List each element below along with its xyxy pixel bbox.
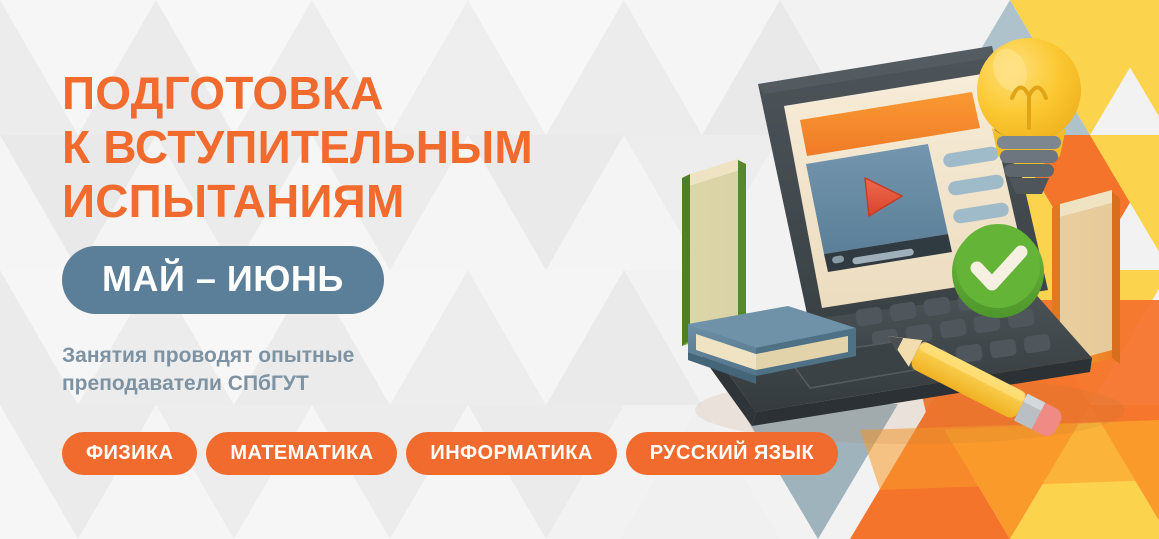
subject-tag-list: ФИЗИКА МАТЕМАТИКА ИНФОРМАТИКА РУССКИЙ ЯЗ… xyxy=(62,432,838,475)
subject-tag-physics[interactable]: ФИЗИКА xyxy=(62,432,197,475)
education-illustration xyxy=(660,28,1159,458)
page-title: ПОДГОТОВКА К ВСТУПИТЕЛЬНЫМ ИСПЫТАНИЯМ xyxy=(62,66,720,228)
subject-tag-russian[interactable]: РУССКИЙ ЯЗЫК xyxy=(626,432,838,475)
subject-tag-informatics[interactable]: ИНФОРМАТИКА xyxy=(406,432,616,475)
promo-banner: ПОДГОТОВКА К ВСТУПИТЕЛЬНЫМ ИСПЫТАНИЯМ МА… xyxy=(0,0,1159,539)
subject-tag-mathematics[interactable]: МАТЕМАТИКА xyxy=(206,432,397,475)
period-badge: МАЙ – ИЮНЬ xyxy=(62,246,384,314)
subtitle: Занятия проводят опытные преподаватели С… xyxy=(62,342,492,398)
